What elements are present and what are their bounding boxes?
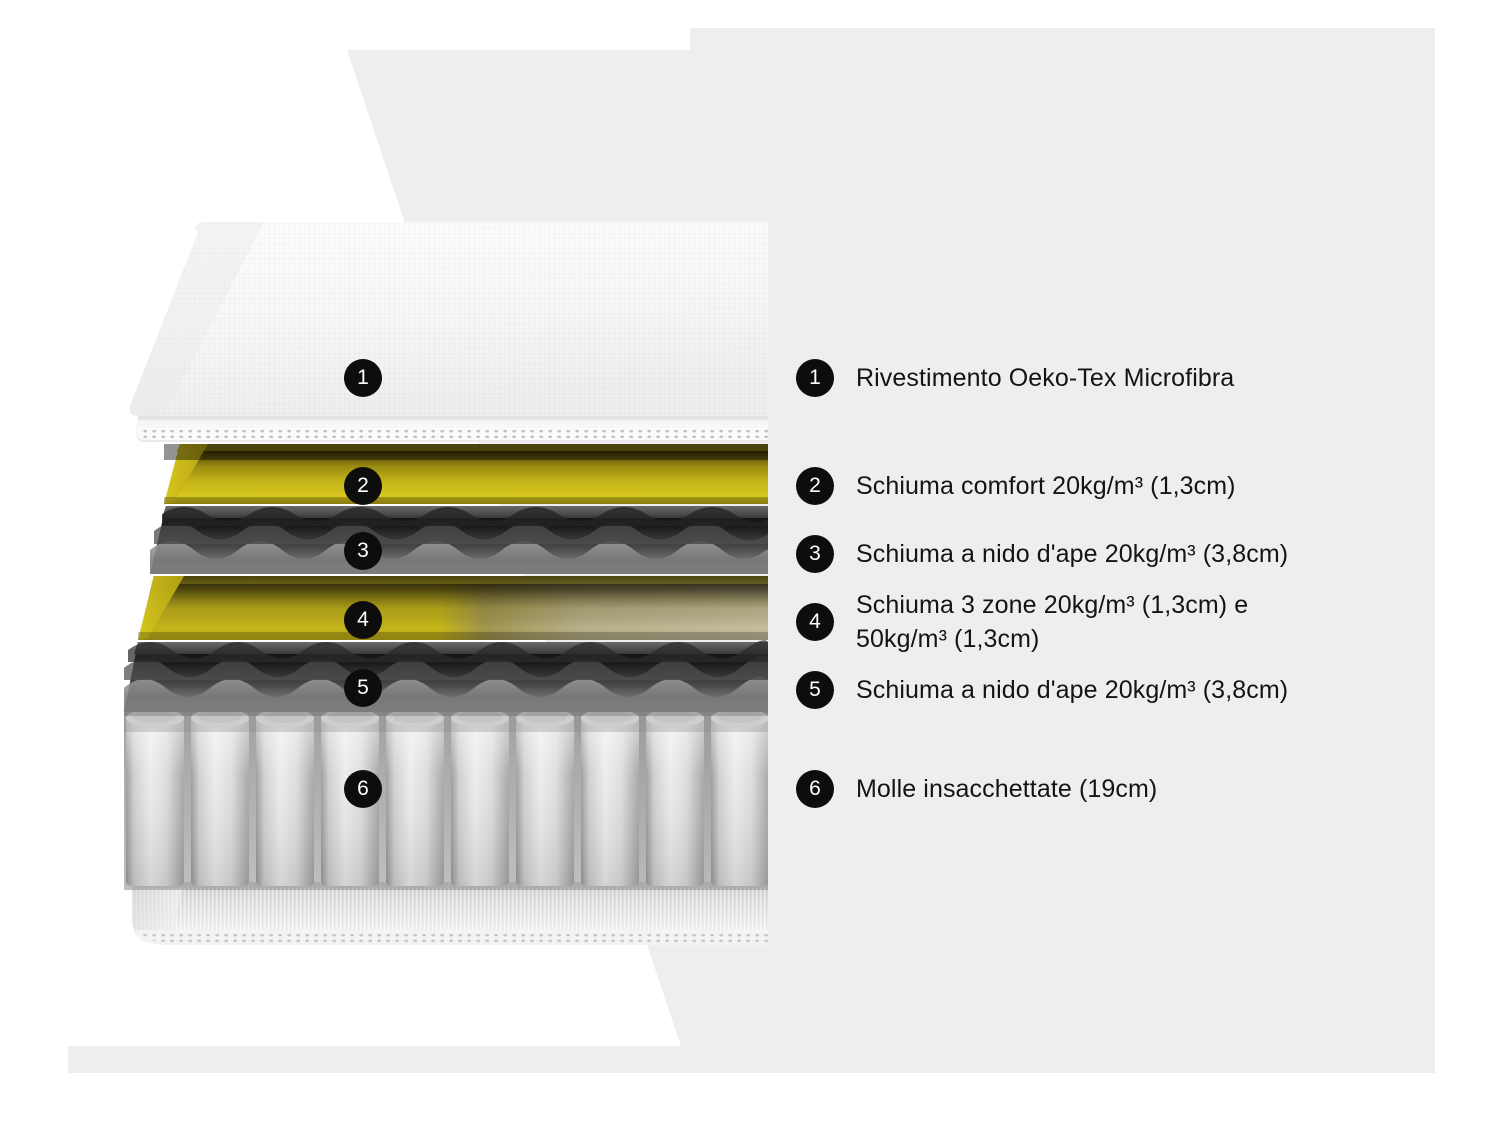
legend-badge-1: 1 [796, 359, 834, 397]
honeycomb-foam-upper [150, 506, 768, 574]
diagram-callout-2: 2 [344, 467, 382, 505]
diagram-callout-3: 3 [344, 532, 382, 570]
legend-label-3: Schiuma a nido d'ape 20kg/m³ (3,8cm) [856, 535, 1288, 571]
legend-badge-2: 2 [796, 467, 834, 505]
legend-label-4: Schiuma 3 zone 20kg/m³ (1,3cm) e 50kg/m³… [856, 586, 1248, 656]
legend-item-5: 5 Schiuma a nido d'ape 20kg/m³ (3,8cm) [796, 671, 1288, 709]
diagram-callout-6: 6 [344, 770, 382, 808]
mattress-cutaway-illustration [124, 218, 768, 953]
background-corner-notch [660, 1000, 720, 1050]
diagram-callout-5: 5 [344, 669, 382, 707]
three-zone-foam-slab [138, 576, 768, 640]
cover-top-panel [130, 222, 768, 442]
legend-label-5: Schiuma a nido d'ape 20kg/m³ (3,8cm) [856, 671, 1288, 707]
comfort-foam-slab [164, 444, 768, 504]
legend-label-6: Molle insacchettate (19cm) [856, 770, 1157, 806]
legend-item-3: 3 Schiuma a nido d'ape 20kg/m³ (3,8cm) [796, 535, 1288, 573]
legend-badge-5: 5 [796, 671, 834, 709]
legend-item-1: 1 Rivestimento Oeko-Tex Microfibra [796, 359, 1234, 397]
legend-badge-4: 4 [796, 603, 834, 641]
pocket-spring-row [124, 706, 768, 890]
legend-badge-3: 3 [796, 535, 834, 573]
screenshot-canvas: 1 2 3 4 5 6 1 Rivestimento Oeko-Tex Micr… [0, 0, 1500, 1125]
legend-item-2: 2 Schiuma comfort 20kg/m³ (1,3cm) [796, 467, 1236, 505]
layer-legend-list: 1 Rivestimento Oeko-Tex Microfibra 2 Sch… [796, 0, 1416, 1125]
legend-item-4: 4 Schiuma 3 zone 20kg/m³ (1,3cm) e 50kg/… [796, 586, 1248, 656]
honeycomb-foam-lower [124, 640, 768, 712]
diagram-callout-1: 1 [344, 359, 382, 397]
legend-label-2: Schiuma comfort 20kg/m³ (1,3cm) [856, 467, 1236, 503]
legend-item-6: 6 Molle insacchettate (19cm) [796, 770, 1157, 808]
legend-label-1: Rivestimento Oeko-Tex Microfibra [856, 359, 1234, 395]
legend-badge-6: 6 [796, 770, 834, 808]
diagram-callout-4: 4 [344, 601, 382, 639]
